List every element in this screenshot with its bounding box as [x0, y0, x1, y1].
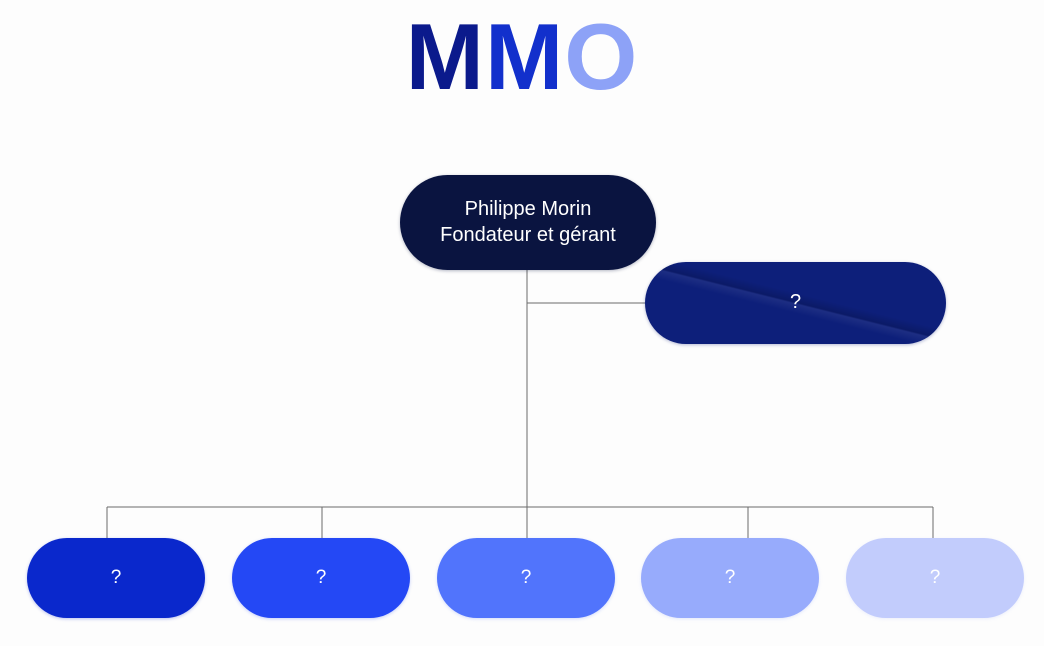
title-letter-o: O [564, 8, 638, 107]
organigramme-canvas: MMO Philippe Morin Fondateur et gérant ?… [0, 0, 1044, 646]
org-node-leaf-2[interactable]: ? [232, 538, 410, 618]
root-person-name: Philippe Morin [465, 197, 592, 223]
org-node-leaf-1[interactable]: ? [27, 538, 205, 618]
title-letter-m1: M [406, 8, 485, 107]
org-node-second-level-1[interactable]: ? [645, 262, 946, 344]
leaf-4-label: ? [725, 566, 736, 590]
leaf-1-label: ? [111, 566, 122, 590]
root-person-role: Fondateur et gérant [440, 223, 616, 249]
page-title: MMO [0, 8, 1044, 107]
second-level-label: ? [790, 290, 801, 316]
org-node-leaf-4[interactable]: ? [641, 538, 819, 618]
title-letter-m2: M [485, 8, 564, 107]
org-node-root[interactable]: Philippe Morin Fondateur et gérant [400, 175, 656, 270]
leaf-2-label: ? [316, 566, 327, 590]
leaf-5-label: ? [930, 566, 941, 590]
leaf-3-label: ? [521, 566, 532, 590]
org-node-leaf-5[interactable]: ? [846, 538, 1024, 618]
org-node-leaf-3[interactable]: ? [437, 538, 615, 618]
